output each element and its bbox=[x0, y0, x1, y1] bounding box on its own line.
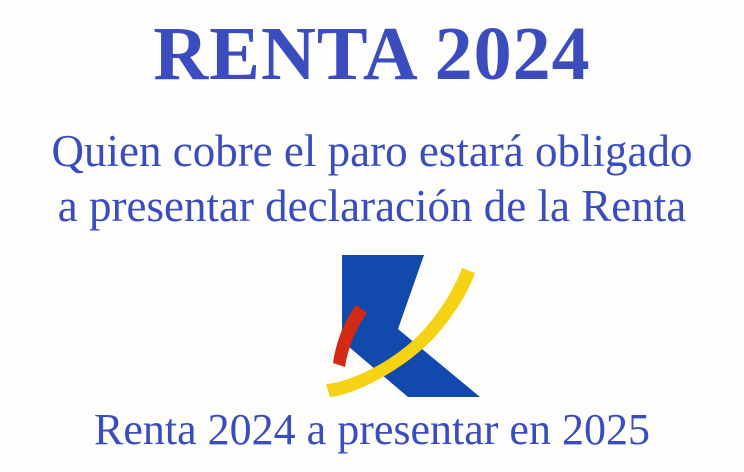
footer-text: Renta 2024 a presentar en 2025 bbox=[0, 408, 744, 452]
subtitle-block: Quien cobre el paro estará obligado a pr… bbox=[0, 124, 744, 234]
page-title: RENTA 2024 bbox=[0, 16, 744, 92]
subtitle-line-1: Quien cobre el paro estará obligado bbox=[0, 124, 744, 179]
agencia-tributaria-logo bbox=[312, 245, 488, 405]
subtitle-line-2: a presentar declaración de la Renta bbox=[0, 179, 744, 234]
agencia-tributaria-logo-icon bbox=[312, 245, 488, 405]
poster-canvas: RENTA 2024 Quien cobre el paro estará ob… bbox=[0, 0, 744, 472]
